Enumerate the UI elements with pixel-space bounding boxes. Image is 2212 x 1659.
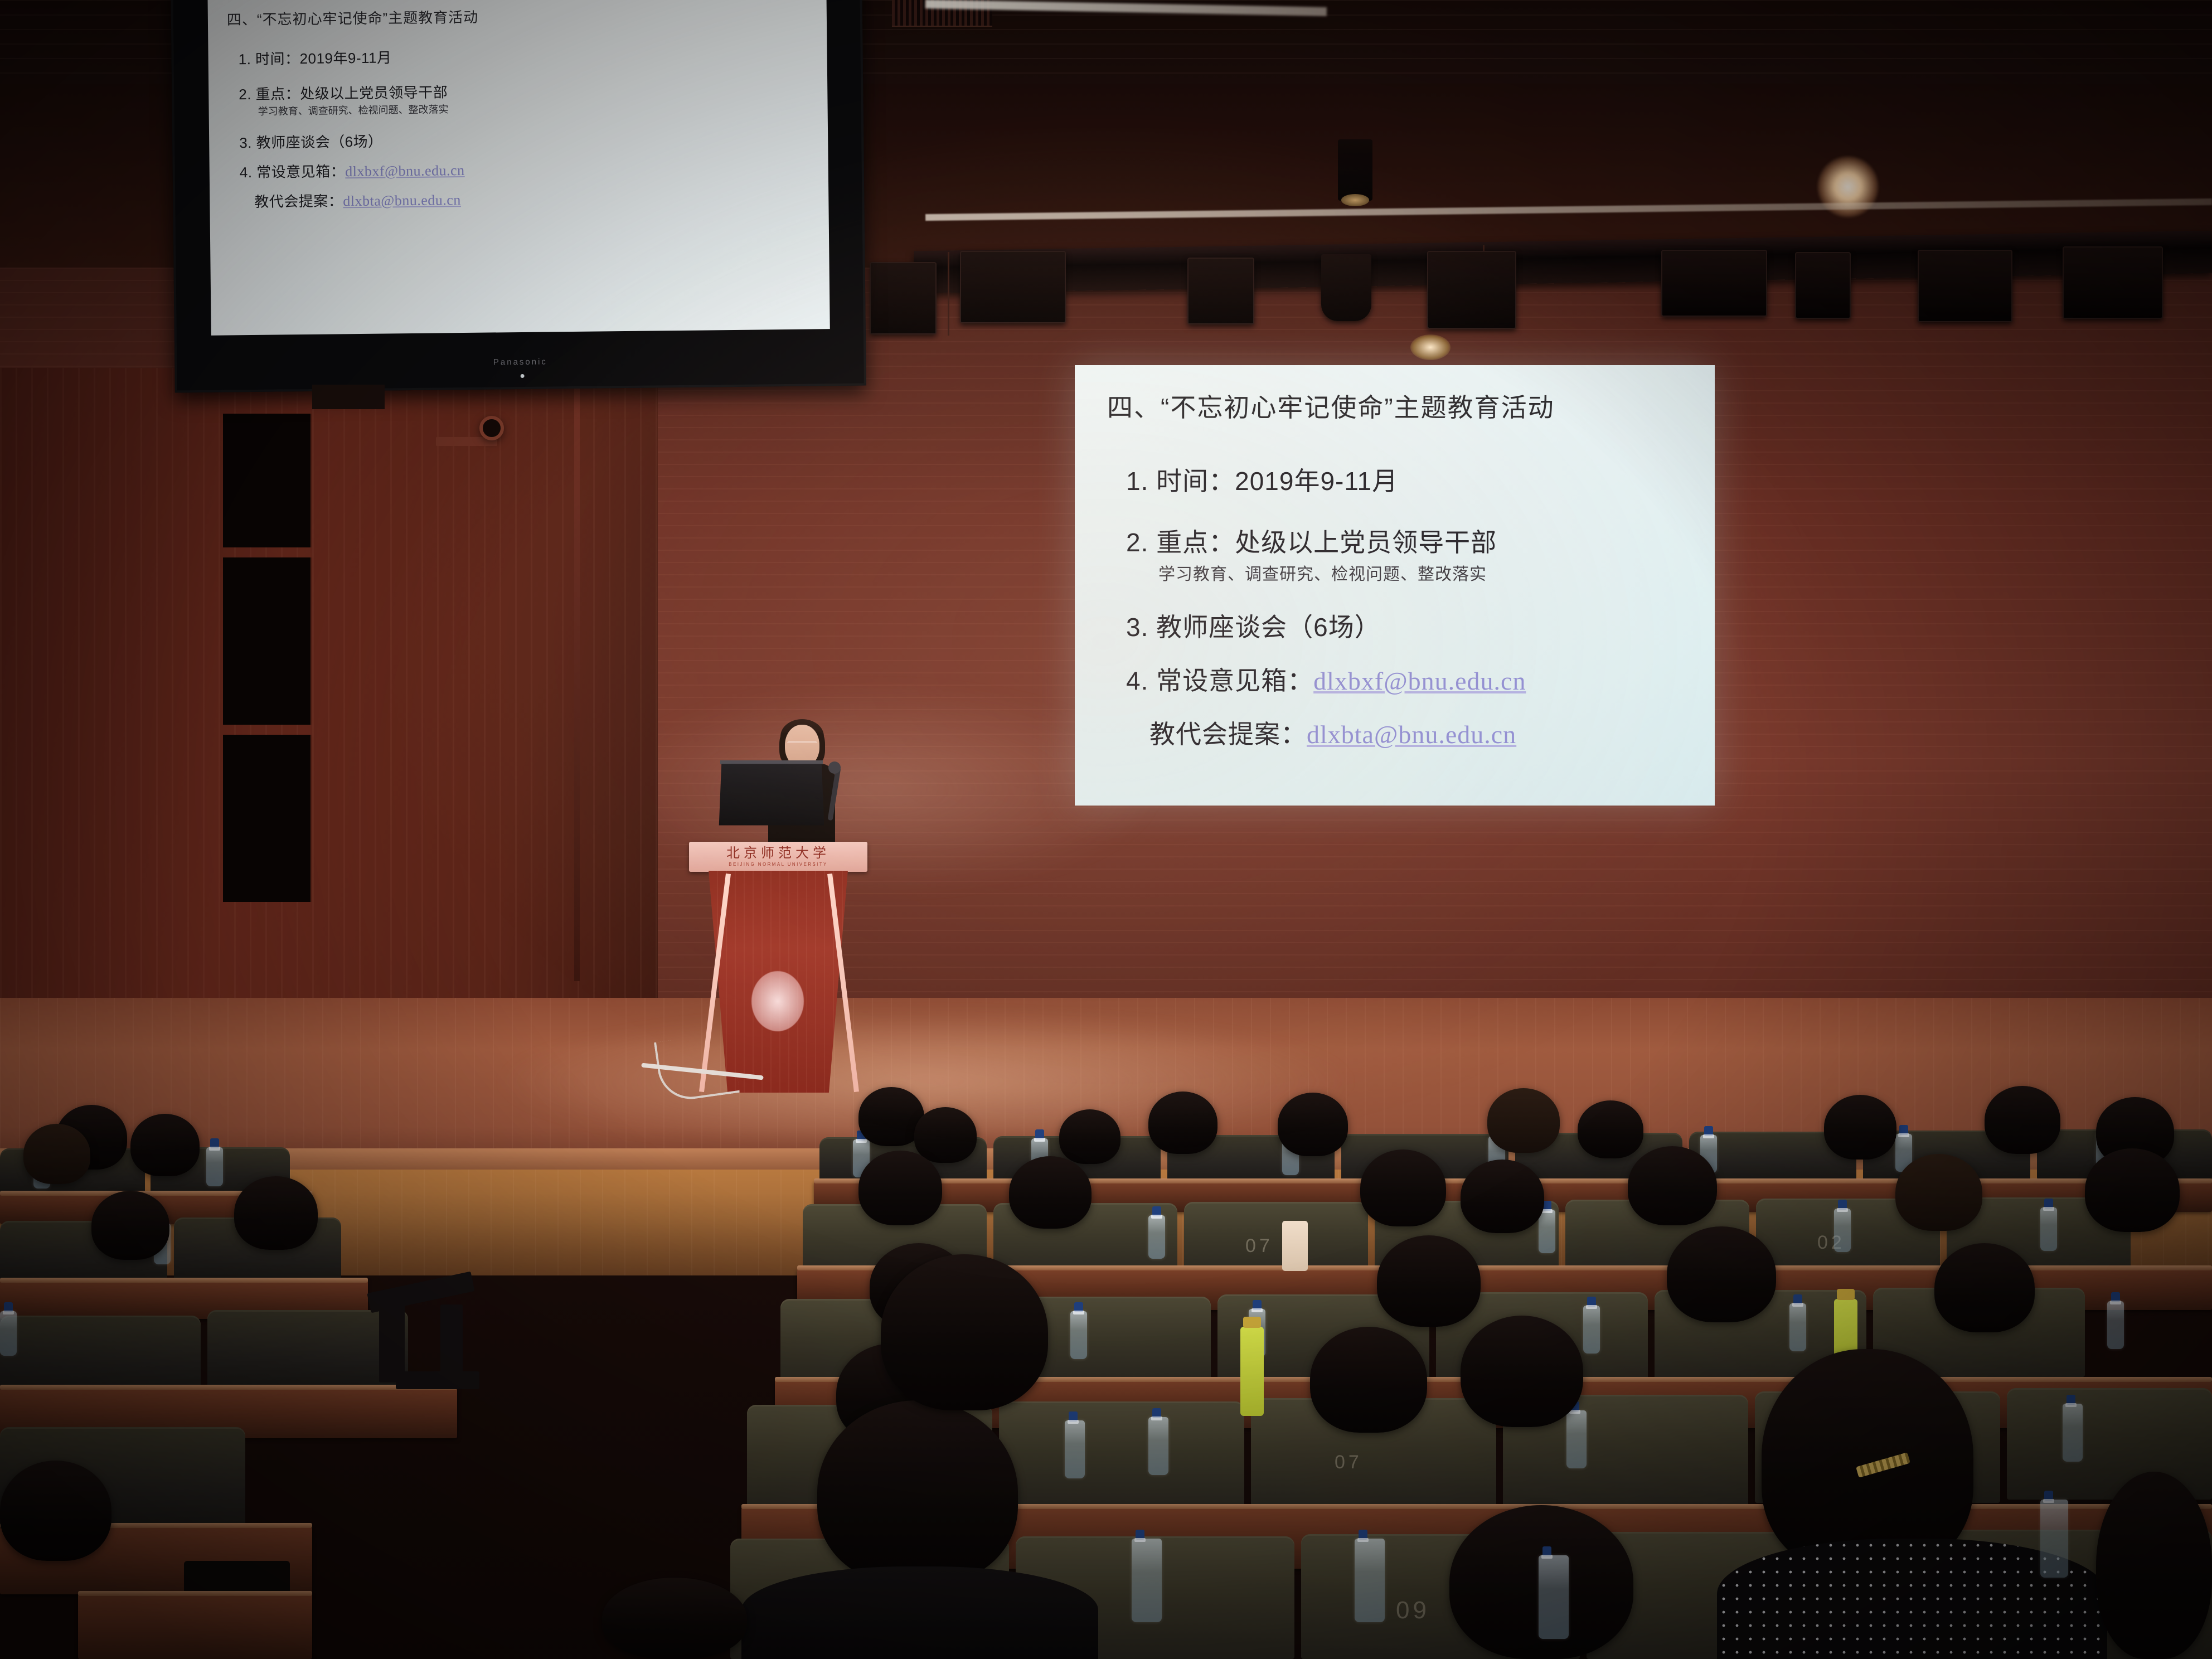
audience-head: [1059, 1109, 1120, 1164]
water-bottle[interactable]: [1583, 1306, 1600, 1354]
monitor-slide-body: 1. 时间：2019年9-11月 2. 重点：处级以上党员领导干部 学习教育、调…: [238, 42, 814, 211]
slide-item-4: 4. 常设意见箱：dlxbxf@bnu.edu.cn: [1126, 661, 1689, 697]
audience-head: [1934, 1243, 2035, 1332]
audience-head: [1667, 1226, 1776, 1322]
truss-lamp-glow: [1410, 334, 1451, 360]
audience-head: [1461, 1316, 1583, 1427]
stage-light-fixture: [1187, 258, 1254, 324]
water-bottle[interactable]: [0, 1311, 17, 1356]
monitor-display: 四、“不忘初心牢记使命”主题教育活动 1. 时间：2019年9-11月 2. 重…: [207, 0, 829, 336]
audience-head: [1377, 1235, 1481, 1327]
stage-light-fixture: [870, 262, 937, 334]
audience-head: [1895, 1154, 1982, 1231]
audience-head-foreground: [602, 1578, 747, 1659]
audience-head: [1824, 1095, 1896, 1160]
slide-item-4-label: 4. 常设意见箱：: [1126, 666, 1313, 695]
audience-head-foreground: [881, 1254, 1048, 1410]
water-bottle[interactable]: [1065, 1420, 1085, 1478]
seat[interactable]: [999, 1401, 1244, 1513]
seat-number: 09: [1396, 1597, 1430, 1624]
monitor-item-4: 4. 常设意见箱：dlxbxf@bnu.edu.cn: [240, 155, 814, 182]
audience-head: [858, 1151, 942, 1225]
audience-head: [2085, 1148, 2180, 1232]
water-bottle[interactable]: [2063, 1404, 2083, 1462]
paper-cup[interactable]: [1282, 1221, 1308, 1271]
water-bottle[interactable]: [1148, 1215, 1165, 1259]
podium-name-en: BEIJING NORMAL UNIVERSITY: [729, 862, 828, 867]
audience-head: [1009, 1156, 1092, 1229]
slide-item-3: 3. 教师座谈会（6场）: [1126, 607, 1689, 644]
slide-item-5: 教代会提案：dlxbta@bnu.edu.cn: [1149, 714, 1689, 751]
stage-light-fixture: [1661, 250, 1767, 317]
wall-slot: [223, 557, 312, 725]
podium-emblem: [751, 971, 804, 1031]
audience-head: [23, 1124, 90, 1184]
proposal-mailbox-link[interactable]: dlxbta@bnu.edu.cn: [1307, 720, 1516, 749]
water-bottle[interactable]: [1834, 1209, 1851, 1252]
water-bottle[interactable]: [1355, 1539, 1385, 1622]
audience-head: [1578, 1100, 1643, 1158]
monitor-item-5-label: 教代会提案：: [254, 192, 343, 210]
monitor-item-1: 1. 时间：2019年9-11月: [238, 42, 812, 69]
thermos-bottle[interactable]: [1240, 1327, 1264, 1416]
stage-light-fixture: [960, 251, 1066, 323]
desk: [78, 1594, 312, 1659]
slide-body: 1. 时间：2019年9-11月 2. 重点：处级以上党员领导干部 学习教育、调…: [1126, 461, 1689, 751]
audience-head: [1278, 1093, 1348, 1156]
slide-title: 四、“不忘初心牢记使命”主题教育活动: [1107, 387, 1689, 424]
water-bottle[interactable]: [1539, 1210, 1555, 1253]
truss-cable: [948, 252, 949, 336]
monitor-ceiling-mount: [312, 385, 385, 409]
stage-light-fixture: [1795, 252, 1851, 319]
wheelchair: [357, 1265, 524, 1410]
podium-name-cn: 北京师范大学: [726, 847, 830, 860]
stage-light-fixture: [1427, 251, 1516, 329]
water-bottle[interactable]: [1148, 1417, 1168, 1475]
water-bottle[interactable]: [1789, 1303, 1806, 1351]
suggestion-mailbox-link[interactable]: dlxbxf@bnu.edu.cn: [1313, 667, 1526, 695]
monitor-proposal-mail: dlxbta@bnu.edu.cn: [343, 192, 461, 209]
seat-number: 07: [1245, 1235, 1273, 1257]
desk-top: [78, 1591, 312, 1596]
audience-head: [1628, 1146, 1717, 1225]
audience-head: [1310, 1327, 1427, 1433]
stage-light-fixture: [1321, 254, 1371, 321]
monitor-suggestion-mail: dlxbxf@bnu.edu.cn: [345, 162, 465, 180]
audience-head-foreground: [817, 1400, 1018, 1584]
water-bottle[interactable]: [2040, 1207, 2057, 1251]
water-bottle[interactable]: [1566, 1410, 1587, 1468]
stage-light-fixture: [1918, 250, 2012, 322]
projection-screen: 四、“不忘初心牢记使命”主题教育活动 1. 时间：2019年9-11月 2. 重…: [1075, 365, 1715, 806]
panasonic-monitor: 四、“不忘初心牢记使命”主题教育活动 1. 时间：2019年9-11月 2. 重…: [171, 0, 866, 392]
wall-camera-mount: [436, 414, 503, 453]
slide-item-5-label: 教代会提案：: [1149, 720, 1307, 749]
water-bottle[interactable]: [1539, 1555, 1569, 1639]
audience-head: [1461, 1160, 1544, 1233]
slide-item-1: 1. 时间：2019年9-11月: [1126, 461, 1689, 498]
audience-head: [1148, 1092, 1217, 1154]
ceiling-downlight: [1338, 139, 1372, 201]
seat[interactable]: 07: [1184, 1202, 1368, 1274]
audience-head: [914, 1107, 977, 1163]
monitor-brand-label: Panasonic: [177, 354, 864, 371]
audience-head: [1360, 1149, 1446, 1226]
auditorium-photo: 四、“不忘初心牢记使命”主题教育活动 1. 时间：2019年9-11月 2. 重…: [0, 0, 2212, 1659]
monitor-item-3: 3. 教师座谈会（6场）: [239, 125, 813, 152]
desk-top: [0, 1278, 368, 1283]
audience-head: [0, 1461, 111, 1561]
audience-head: [91, 1191, 169, 1260]
audience-shoulders: [741, 1566, 1098, 1659]
wall-divider: [574, 368, 580, 981]
monitor-power-led: [521, 374, 525, 378]
audience-head: [1487, 1088, 1560, 1153]
microphone-head-icon: [828, 761, 841, 774]
water-bottle[interactable]: [1070, 1311, 1087, 1359]
audience-head: [130, 1114, 200, 1176]
water-bottle[interactable]: [2040, 1500, 2068, 1578]
monitor-item-4-label: 4. 常设意见箱：: [240, 163, 346, 181]
water-bottle[interactable]: [1132, 1539, 1162, 1622]
podium-nameplate: 北京师范大学 BEIJING NORMAL UNIVERSITY: [689, 842, 867, 872]
wall-slot: [223, 735, 312, 902]
slide-subnote: 学习教育、调查研究、检视问题、整改落实: [1158, 560, 1689, 585]
wall-slot: [223, 414, 312, 547]
podium-laptop: [719, 764, 824, 825]
audience-head: [1985, 1086, 2060, 1154]
slide-item-2: 2. 重点：处级以上党员领导干部: [1126, 522, 1689, 559]
water-bottle[interactable]: [206, 1147, 223, 1186]
audience-head: [234, 1176, 318, 1250]
audience-head-foreground: [2096, 1472, 2212, 1659]
seat-number: 07: [1335, 1452, 1362, 1473]
water-bottle[interactable]: [2107, 1301, 2124, 1349]
monitor-item-5: 教代会提案：dlxbta@bnu.edu.cn: [254, 185, 814, 211]
stage-light-fixture: [2063, 246, 2163, 319]
monitor-slide-title: 四、“不忘初心牢记使命”主题教育活动: [227, 2, 812, 29]
